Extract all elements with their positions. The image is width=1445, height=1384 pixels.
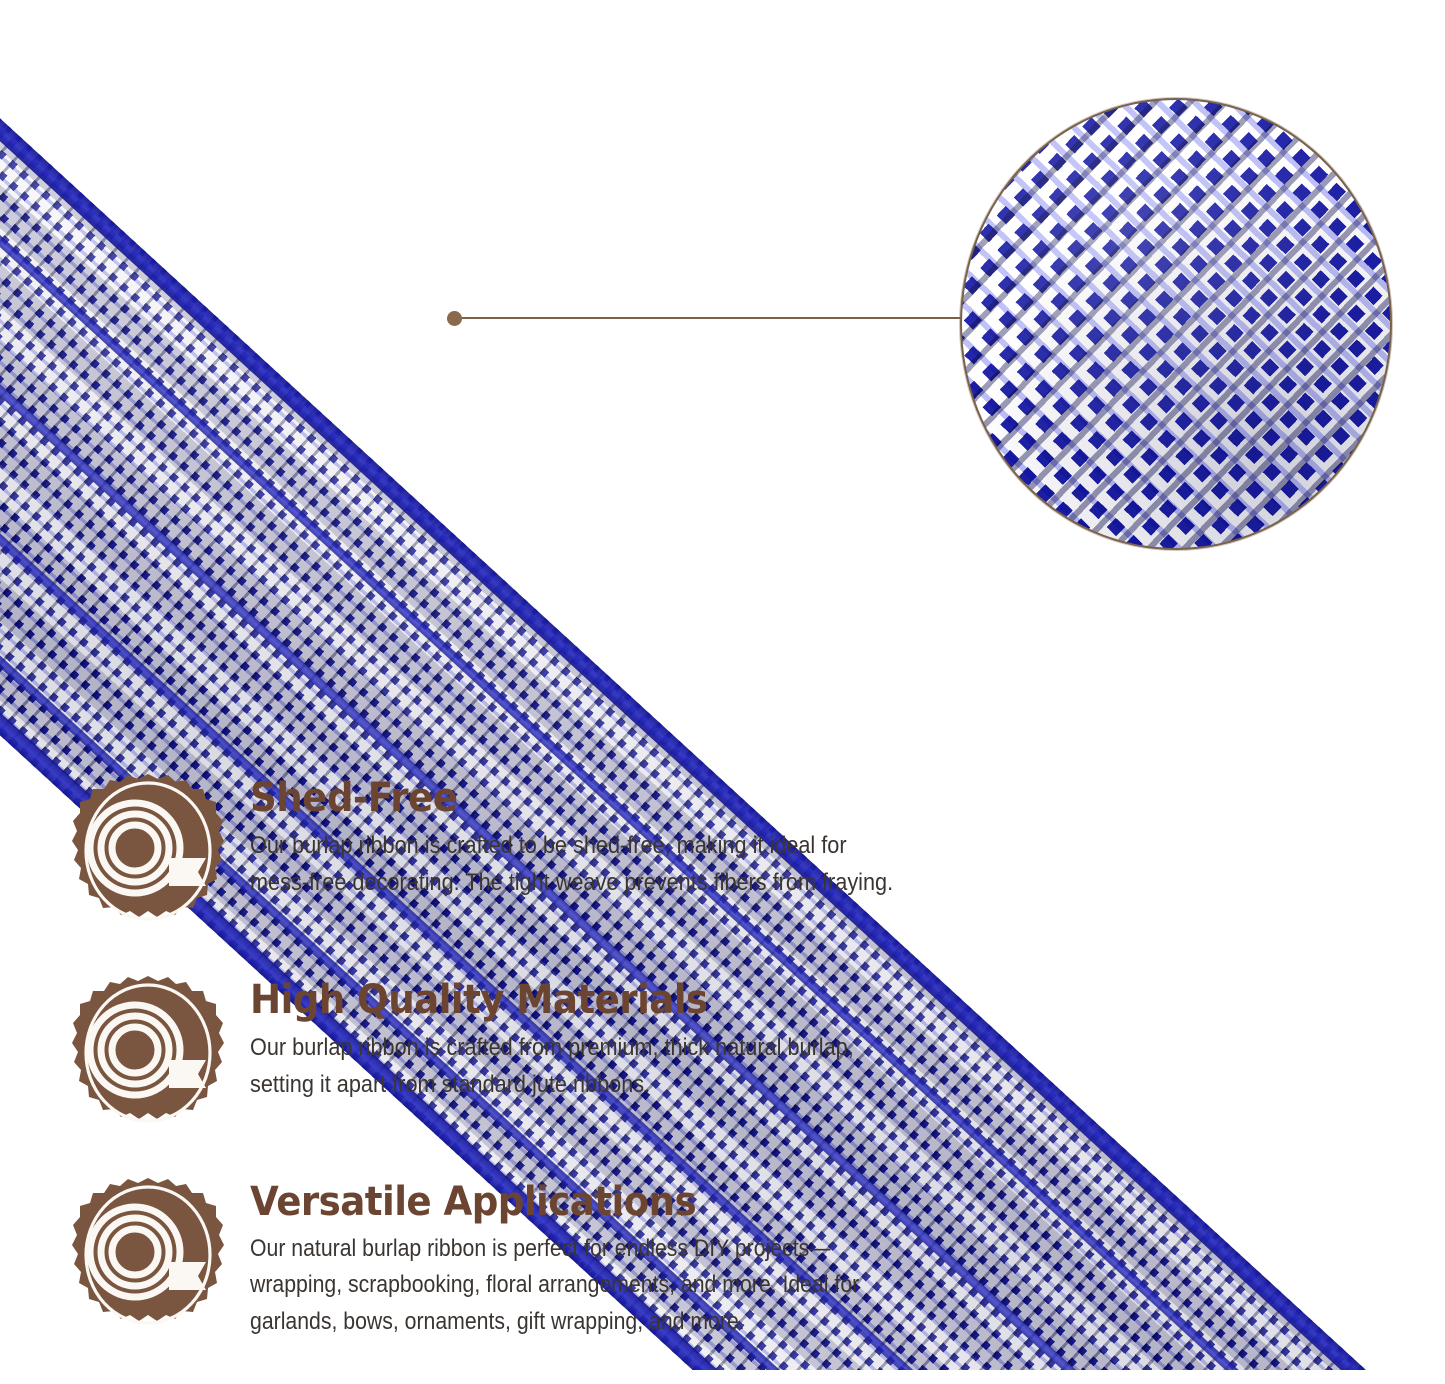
feature-title: Shed-Free [250, 778, 856, 819]
ribbon-roll-badge-icon [72, 1176, 224, 1334]
list-item: Versatile Applications Our natural burla… [72, 1176, 902, 1340]
feature-description: Our natural burlap ribbon is perfect for… [250, 1231, 902, 1340]
feature-description: Our burlap ribbon is crafted to be shed-… [250, 827, 902, 901]
magnifier-weave-texture [960, 98, 1392, 550]
feature-list: Shed-Free Our burlap ribbon is crafted t… [72, 772, 902, 1384]
feature-title: High Quality Materials [250, 980, 856, 1021]
ribbon-roll-badge-icon [72, 974, 224, 1132]
ribbon-roll-badge-icon [72, 772, 224, 930]
list-item: Shed-Free Our burlap ribbon is crafted t… [72, 772, 902, 930]
callout-leader-line [458, 317, 963, 319]
feature-description: Our burlap ribbon is crafted from premiu… [250, 1029, 902, 1103]
feature-text-block: Shed-Free Our burlap ribbon is crafted t… [250, 772, 902, 901]
feature-text-block: Versatile Applications Our natural burla… [250, 1176, 902, 1340]
feature-title: Versatile Applications [250, 1182, 856, 1223]
list-item: High Quality Materials Our burlap ribbon… [72, 974, 902, 1132]
weave-closeup-magnifier [960, 98, 1392, 550]
feature-text-block: High Quality Materials Our burlap ribbon… [250, 974, 902, 1103]
weave-detail-anchor-dot [447, 311, 462, 326]
